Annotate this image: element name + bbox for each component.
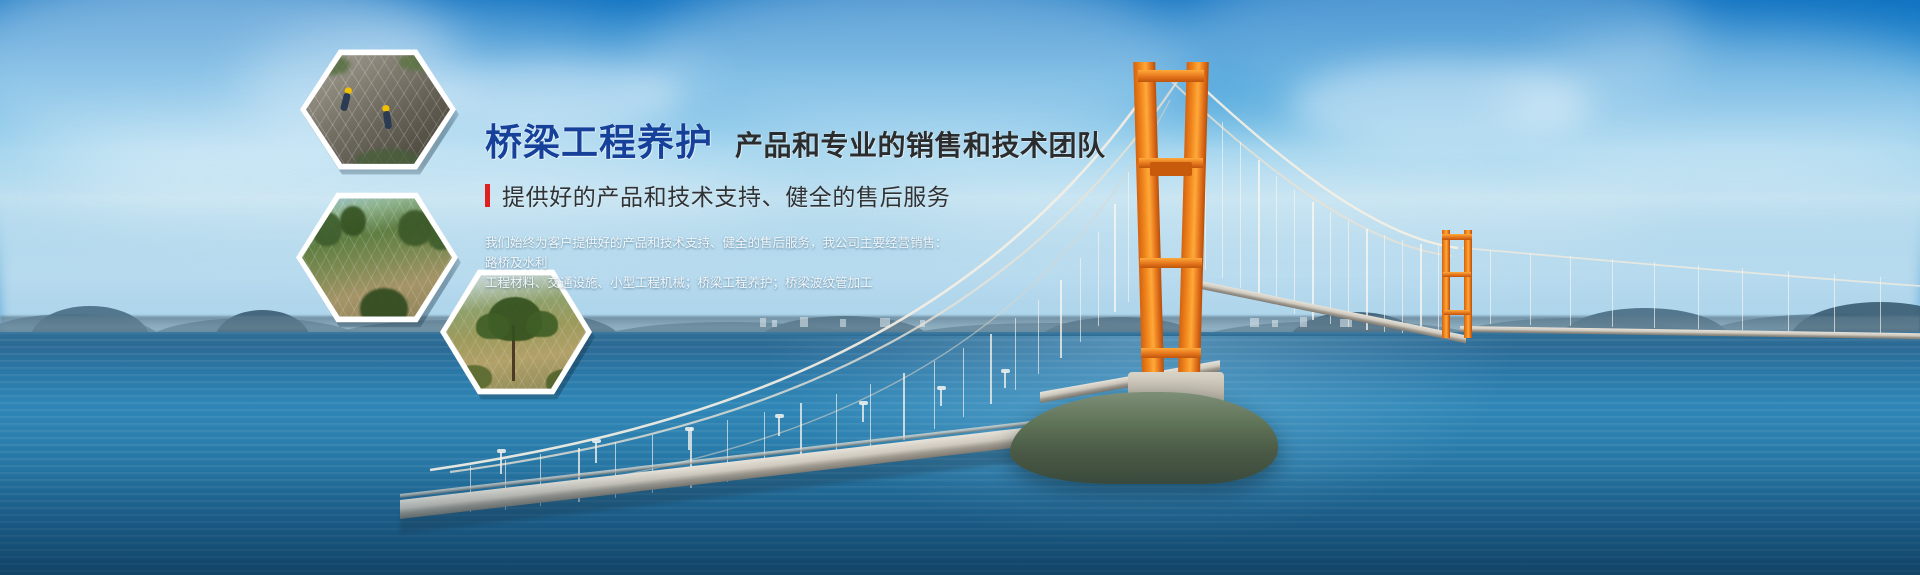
tree-canopy xyxy=(526,311,558,337)
photo-green-hillside-mesh xyxy=(302,196,452,319)
hex-photo-1[interactable] xyxy=(300,47,456,172)
worker-figure xyxy=(383,111,392,130)
description-line-2: 工程材料、交通设施、小型工程机械；桥梁工程养护；桥梁波纹管加工 xyxy=(485,273,955,293)
description-line-1: 我们始终为客户提供好的产品和技术支持、健全的售后服务，我公司主要经营销售：路桥及… xyxy=(485,233,955,273)
headline-secondary: 产品和专业的销售和技术团队 xyxy=(735,132,1106,160)
banner-headline: 桥梁工程养护 产品和专业的销售和技术团队 xyxy=(485,124,1125,161)
tree-canopy xyxy=(476,313,510,339)
banner-subtitle: 提供好的产品和技术支持、健全的售后服务 xyxy=(502,178,950,212)
photo-rock-slope-mesh-workers xyxy=(306,53,450,166)
banner-copy: 桥梁工程养护 产品和专业的销售和技术团队 提供好的产品和技术支持、健全的售后服务… xyxy=(485,124,1125,293)
accent-bar xyxy=(485,184,490,207)
foreground-water-tint xyxy=(0,470,1920,575)
bridge-tower-far xyxy=(1442,230,1472,338)
headline-primary: 桥梁工程养护 xyxy=(485,124,713,161)
banner-description: 我们始终为客户提供好的产品和技术支持、健全的售后服务，我公司主要经营销售：路桥及… xyxy=(485,233,955,293)
shrub xyxy=(456,365,492,389)
bridge-tower-near xyxy=(1136,62,1206,402)
worker-figure xyxy=(340,92,351,111)
hex-photo-2[interactable] xyxy=(296,190,458,325)
hex-image-clip xyxy=(302,196,452,319)
banner-subtitle-row: 提供好的产品和技术支持、健全的售后服务 xyxy=(485,178,1125,212)
hex-image-clip xyxy=(306,53,450,166)
hero-banner: 桥梁工程养护 产品和专业的销售和技术团队 提供好的产品和技术支持、健全的售后服务… xyxy=(0,0,1920,575)
